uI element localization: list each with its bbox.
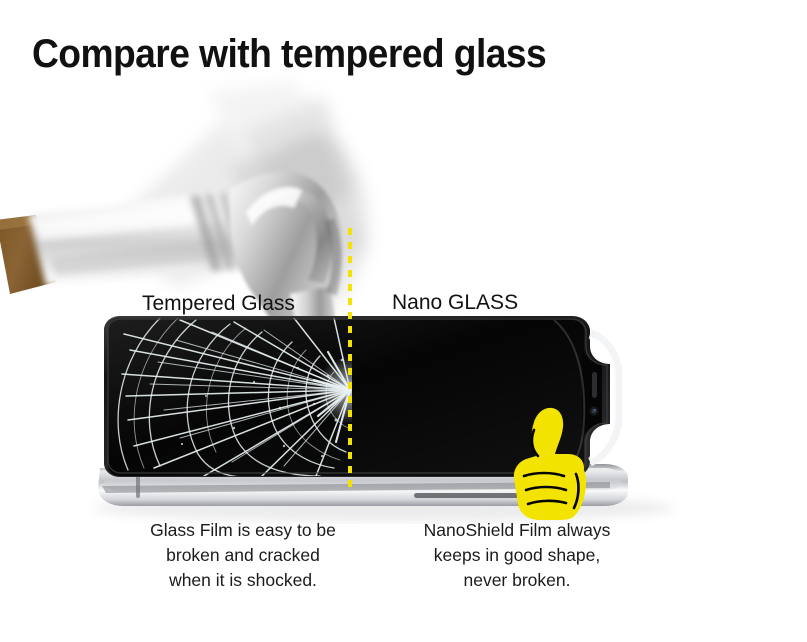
caption-line: when it is shocked. — [98, 568, 388, 593]
caption-tempered-glass: Glass Film is easy to be broken and crac… — [98, 518, 388, 593]
caption-line: keeps in good shape, — [372, 543, 662, 568]
smartphone-icon — [84, 316, 706, 524]
caption-line: never broken. — [372, 568, 662, 593]
label-tempered-glass: Tempered Glass — [142, 292, 295, 316]
caption-line: Glass Film is easy to be — [98, 518, 388, 543]
label-nano-glass: Nano GLASS — [392, 291, 518, 315]
caption-line: NanoShield Film always — [372, 518, 662, 543]
vertical-dashed-divider — [348, 228, 352, 492]
caption-nano-glass: NanoShield Film always keeps in good sha… — [372, 518, 662, 593]
page-title: Compare with tempered glass — [32, 32, 546, 77]
thumbs-up-icon — [500, 404, 596, 520]
product-comparison-banner: Compare with tempered glass — [0, 0, 807, 642]
caption-line: broken and cracked — [98, 543, 388, 568]
